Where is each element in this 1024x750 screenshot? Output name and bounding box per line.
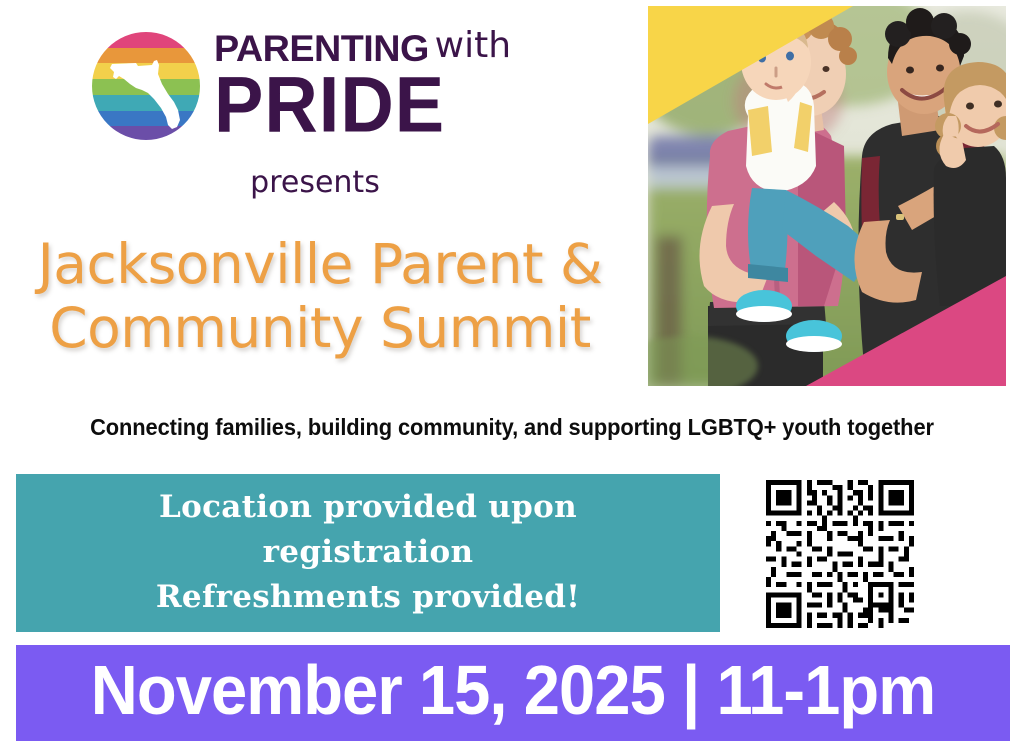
event-date-text: November 15, 2025 | 11-1pm [91,655,935,731]
location-info-line-2: registration [156,530,580,575]
qr-code-matrix [766,480,914,628]
location-info-text: Location provided upon registration Refr… [156,485,580,622]
parenting-with-pride-logo: PARENTINGwith PRIDE [92,28,562,158]
flyer-canvas: PARENTINGwith PRIDE presents Jacksonvill… [0,0,1024,750]
event-title-line-2: Community Summit [0,296,640,360]
location-info-line-3: Refreshments provided! [156,575,580,620]
family-photo [648,6,1006,386]
florida-state-shape-icon [92,32,200,140]
photo-pink-corner-accent [806,276,1006,386]
florida-rainbow-circle-icon [92,32,200,140]
location-info-line-1: Location provided upon [156,485,580,530]
logo-word-with: with [435,25,511,66]
event-title: Jacksonville Parent & Community Summit [0,232,640,360]
photo-yellow-corner-accent [648,6,853,124]
location-info-box: Location provided upon registration Refr… [16,474,720,632]
date-banner: November 15, 2025 | 11-1pm [16,645,1010,741]
registration-qr-code[interactable] [766,480,914,628]
logo-wordmark: PARENTINGwith PRIDE [214,28,564,158]
presents-label: presents [0,165,630,200]
event-tagline: Connecting families, building community,… [26,414,999,441]
event-title-line-1: Jacksonville Parent & [0,232,640,296]
logo-word-pride: PRIDE [214,66,445,144]
